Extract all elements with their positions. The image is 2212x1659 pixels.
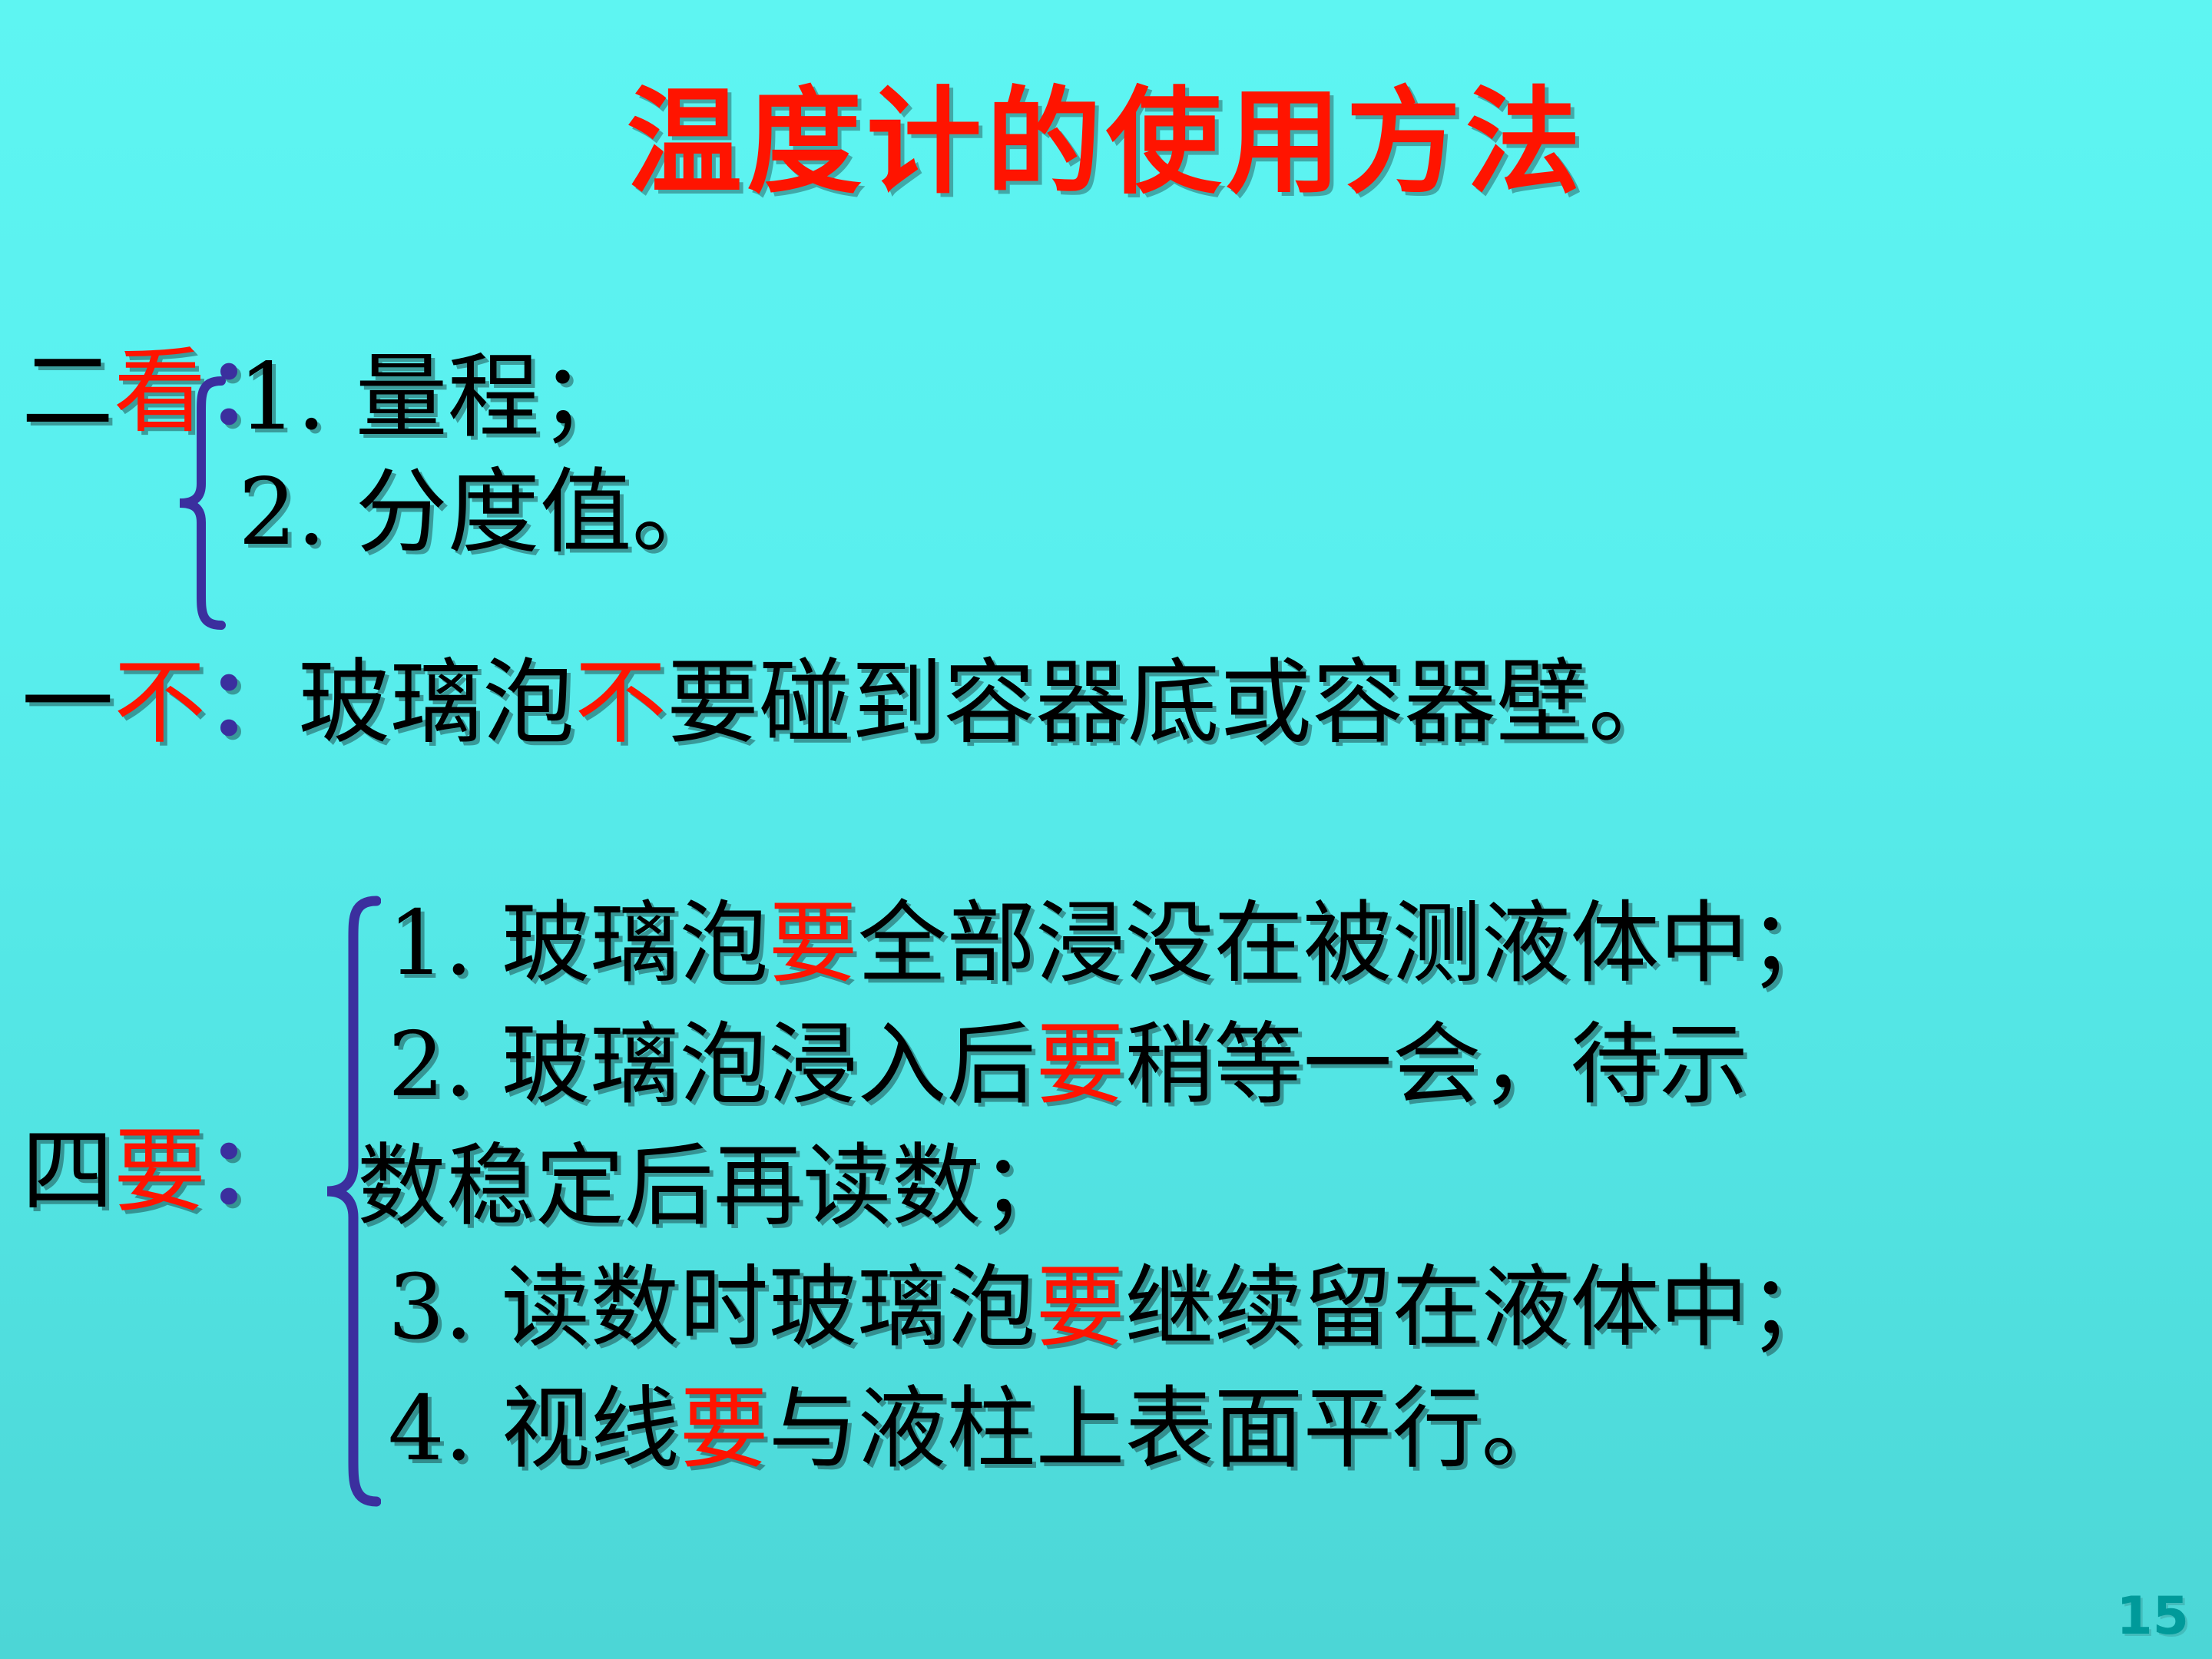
list-item: 1. 量程； <box>238 352 632 444</box>
list-item: 4. 视线要与液柱上表面平行。 <box>388 1369 1838 1490</box>
list-item-before: 数稳定后再读数； <box>357 1134 1070 1238</box>
list-item-number: 1. <box>388 892 473 995</box>
page-number: 15 <box>2116 1586 2189 1647</box>
list-item-keyword: 要 <box>1036 1256 1125 1359</box>
section-label-prefix: 四 <box>22 1118 114 1225</box>
list-item-number: 4. <box>388 1377 473 1481</box>
list-item-after: 与液柱上表面平行。 <box>769 1377 1571 1481</box>
list-item-keyword: 要 <box>769 892 858 995</box>
list-item: 2. 分度值。 <box>238 467 724 559</box>
list-item-after: 继续留在液体中； <box>1125 1256 1838 1359</box>
list-item-text: 分度值 <box>356 459 632 566</box>
list-item-continuation: 数稳定后再读数； <box>357 1126 1838 1247</box>
list-item-number: 2. <box>238 459 326 566</box>
list-item: 3. 读数时玻璃泡要继续留在液体中； <box>388 1247 1838 1369</box>
list-item-after: 全部浸没在被测液体中； <box>858 892 1838 995</box>
section-body-after: 要碰到容器底或容器壁。 <box>667 650 1681 757</box>
list-item-keyword: 要 <box>1036 1013 1125 1117</box>
list-item: 2. 玻璃泡浸入后要稍等一会，待示 <box>388 1005 1838 1126</box>
section-label-keyword: 不 <box>114 650 206 757</box>
section-label-keyword: 要 <box>114 1118 206 1225</box>
list-item-before: 玻璃泡浸入后 <box>502 1013 1036 1117</box>
section-label-prefix: 二 <box>22 339 114 445</box>
list-item-number: 1. <box>238 344 326 451</box>
list-item: 1. 玻璃泡要全部浸没在被测液体中； <box>388 883 1838 1005</box>
list-item-punct: 。 <box>632 459 724 566</box>
curly-brace-icon-two-look <box>175 376 226 630</box>
list-item-punct: ； <box>540 344 632 451</box>
section-lines-four-must: 1. 玻璃泡要全部浸没在被测液体中； 2. 玻璃泡浸入后要稍等一会，待示 数稳定… <box>388 883 1838 1490</box>
section-line-one-not: 一不：玻璃泡不要碰到容器底或容器壁。 <box>22 657 1681 750</box>
list-item-text: 量程 <box>356 344 540 451</box>
list-item-before: 视线 <box>502 1377 680 1481</box>
section-label-colon: ： <box>206 648 298 757</box>
slide-root: 温度计的使用方法 二看： 1. 量程； 2. 分度值。 一不：玻璃泡不要碰到容器… <box>0 0 2212 1659</box>
section-body-before: 玻璃泡 <box>298 650 575 757</box>
list-item-number: 3. <box>388 1256 473 1359</box>
page-title: 温度计的使用方法 <box>0 83 2212 204</box>
section-label-prefix: 一 <box>22 650 114 757</box>
list-item-keyword: 要 <box>680 1377 769 1481</box>
section-label-four-must: 四要： <box>22 1125 298 1218</box>
list-item-after: 稍等一会，待示 <box>1125 1013 1749 1117</box>
section-label-colon: ： <box>206 1117 298 1225</box>
list-item-before: 读数时玻璃泡 <box>502 1256 1036 1359</box>
list-item-number: 2. <box>388 1013 473 1117</box>
section-body-keyword: 不 <box>575 650 667 757</box>
list-item-before: 玻璃泡 <box>502 892 769 995</box>
